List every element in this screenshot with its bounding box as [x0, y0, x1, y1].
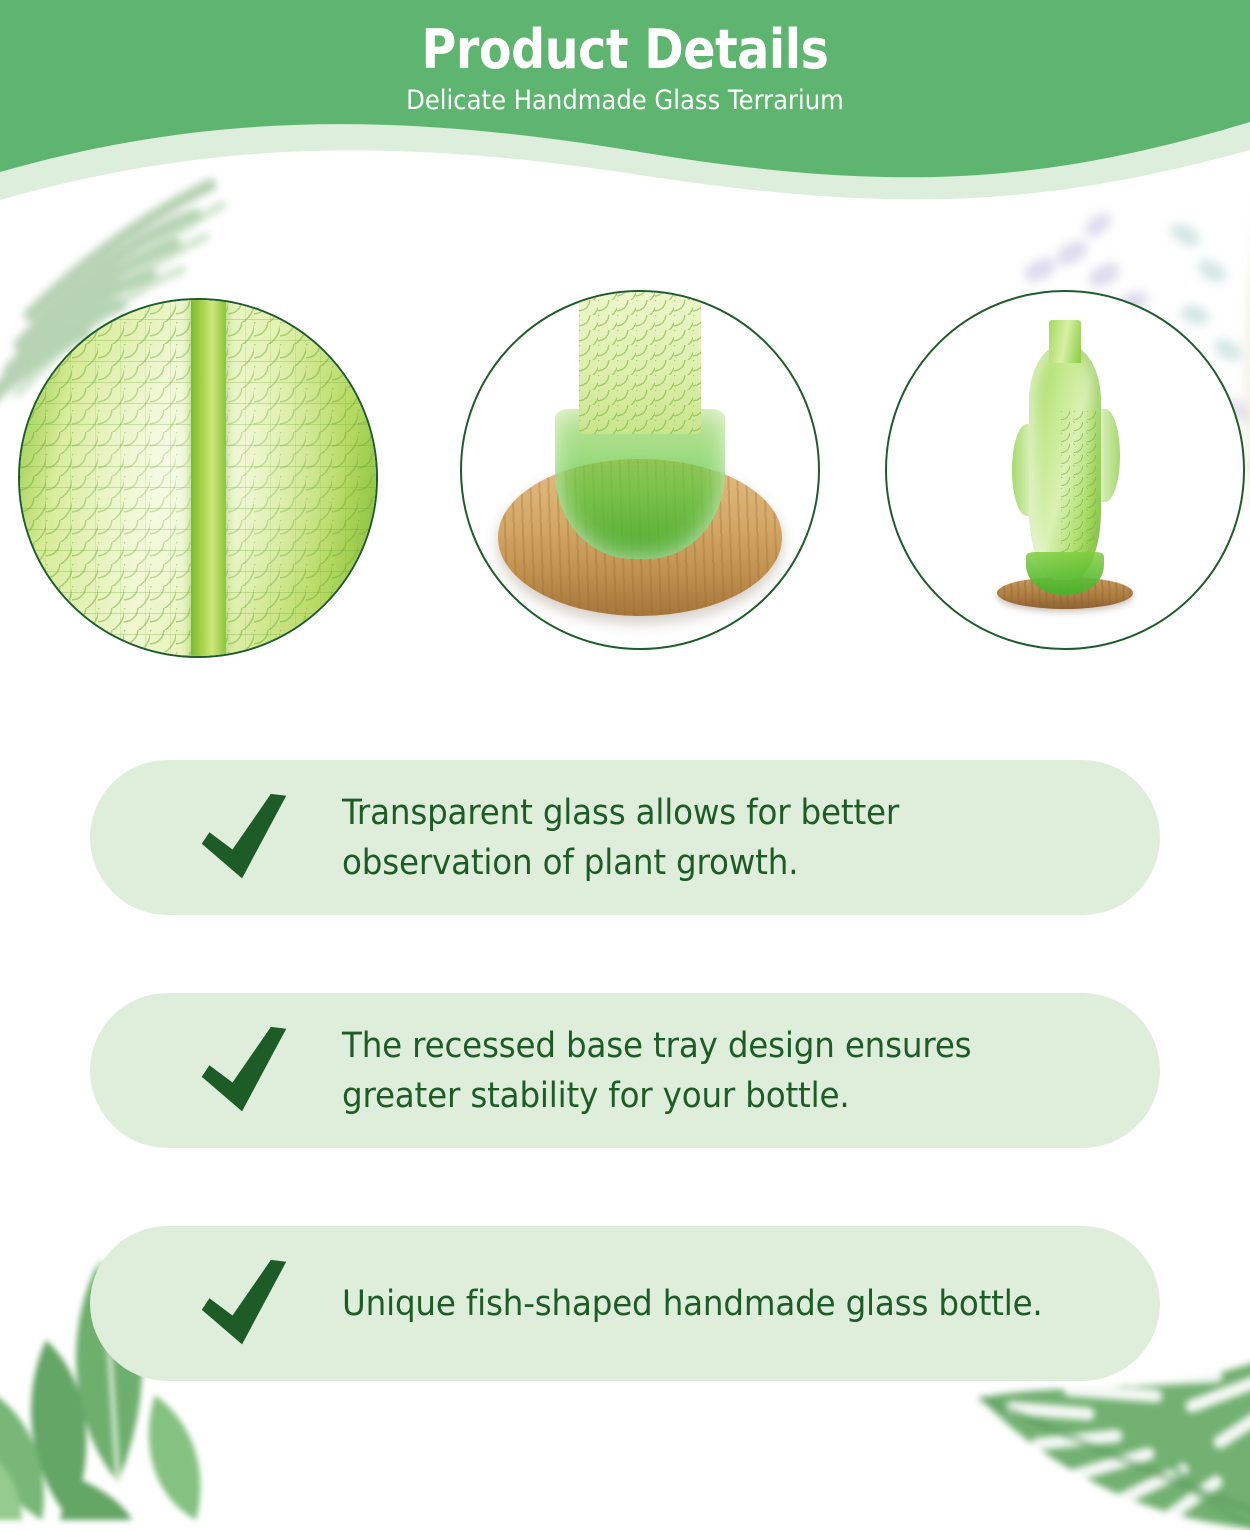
check-icon — [196, 790, 292, 886]
fish-bottle-body — [1029, 345, 1100, 580]
feature-item: Transparent glass allows for better obse… — [90, 760, 1160, 915]
check-icon — [196, 1023, 292, 1119]
photo-glass-scale-texture-closeup[interactable] — [18, 298, 378, 658]
bottle-base-image — [462, 292, 818, 648]
glass-scale-texture-image — [20, 300, 376, 656]
page-header: Product Details Delicate Handmade Glass … — [0, 0, 1250, 210]
feature-item: Unique fish-shaped handmade glass bottle… — [90, 1226, 1160, 1381]
glass-textured-neck — [579, 290, 700, 434]
check-icon — [196, 1256, 292, 1352]
page-subtitle: Delicate Handmade Glass Terrarium — [63, 82, 1188, 120]
fish-bottle-image — [887, 292, 1243, 648]
feature-list: Transparent glass allows for better obse… — [0, 760, 1250, 1381]
feature-text: Transparent glass allows for better obse… — [342, 788, 1066, 888]
bottle-neck — [1049, 320, 1081, 363]
product-photo-row — [0, 290, 1250, 680]
photo-bottle-base-on-wooden-tray[interactable] — [460, 290, 820, 650]
feature-item: The recessed base tray design ensures gr… — [90, 993, 1160, 1148]
feature-text: Unique fish-shaped handmade glass bottle… — [342, 1279, 1043, 1329]
feature-text: The recessed base tray design ensures gr… — [342, 1021, 1066, 1121]
page-title: Product Details — [75, 18, 1175, 82]
center-ridge — [191, 298, 227, 658]
photo-full-fish-bottle-on-base[interactable] — [885, 290, 1245, 650]
